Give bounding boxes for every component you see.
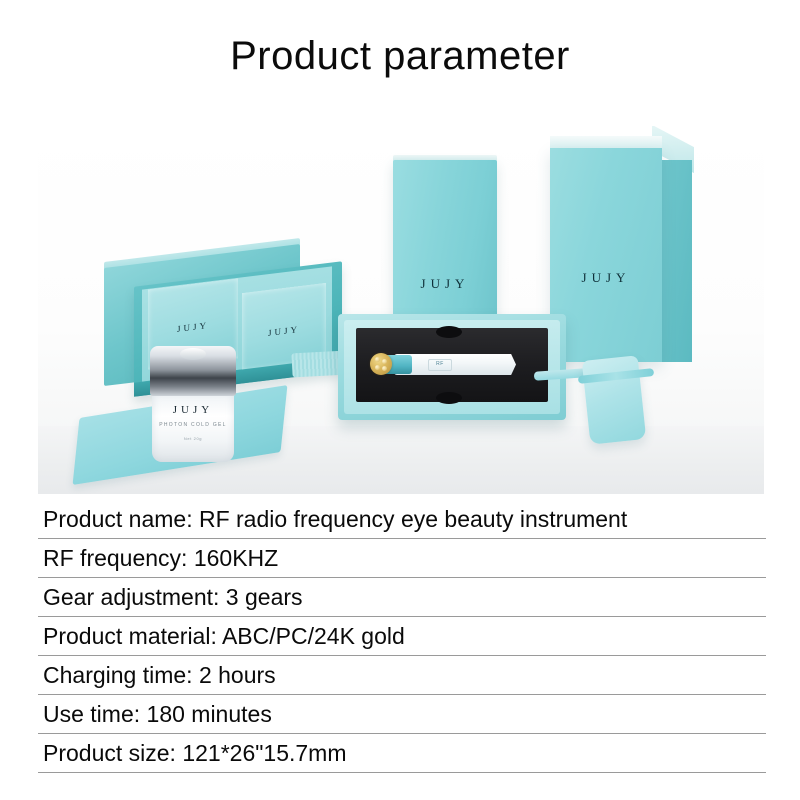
rf-electrode-dot	[375, 357, 380, 362]
spec-product-material: Product material: ABC/PC/24K gold	[38, 625, 405, 648]
flap-right-brand-label: JUJY	[242, 321, 326, 341]
foam-notch-bottom	[436, 392, 462, 404]
spec-product-size: Product size: 121*26"15.7mm	[38, 742, 347, 765]
jar-lid-highlight	[180, 348, 206, 360]
device-gold-rf-head	[370, 353, 392, 375]
product-parameter-table: Product name: RF radio frequency eye bea…	[38, 500, 766, 773]
rf-electrode-dot	[375, 365, 380, 370]
rf-electrode-dot	[382, 366, 387, 371]
rf-eye-beauty-device: RF	[370, 352, 532, 378]
large-box-brand-label: JUJY	[550, 270, 662, 286]
jar-net-weight-label: Net 20g	[150, 436, 236, 441]
device-display-label: RF	[429, 361, 451, 367]
flap-left-brand-label: JUJY	[148, 316, 238, 337]
spec-rf-frequency: RF frequency: 160KHZ	[38, 547, 278, 570]
spec-use-time: Use time: 180 minutes	[38, 703, 272, 726]
spec-gear-adjustment: Gear adjustment: 3 gears	[38, 586, 303, 609]
jar-subtitle-label: PHOTON COLD GEL	[150, 422, 236, 428]
rf-electrode-dot	[382, 359, 387, 364]
device-display-panel: RF	[428, 359, 452, 371]
device-handle	[394, 354, 516, 375]
spec-charging-time: Charging time: 2 hours	[38, 664, 276, 687]
product-packaging-photo: JUJY JUJY JUJY PHOTON COLD GEL Net 20g J…	[38, 126, 764, 494]
table-row: Gear adjustment: 3 gears	[38, 578, 766, 617]
table-row: Product material: ABC/PC/24K gold	[38, 617, 766, 656]
foam-notch-top	[436, 326, 462, 338]
table-row: Use time: 180 minutes	[38, 695, 766, 734]
table-row: Product name: RF radio frequency eye bea…	[38, 500, 766, 539]
table-row: RF frequency: 160KHZ	[38, 539, 766, 578]
table-row: Product size: 121*26"15.7mm	[38, 734, 766, 773]
spec-product-name: Product name: RF radio frequency eye bea…	[38, 508, 627, 531]
jar-brand-label: JUJY	[150, 404, 236, 416]
slim-box-brand-label: JUJY	[393, 276, 497, 292]
fabric-pouch	[582, 355, 646, 444]
page-title: Product parameter	[0, 36, 800, 76]
large-standing-box: JUJY	[550, 148, 662, 362]
photon-cold-gel-jar: JUJY PHOTON COLD GEL Net 20g	[150, 346, 236, 464]
table-row: Charging time: 2 hours	[38, 656, 766, 695]
large-box-side-face	[662, 160, 692, 362]
